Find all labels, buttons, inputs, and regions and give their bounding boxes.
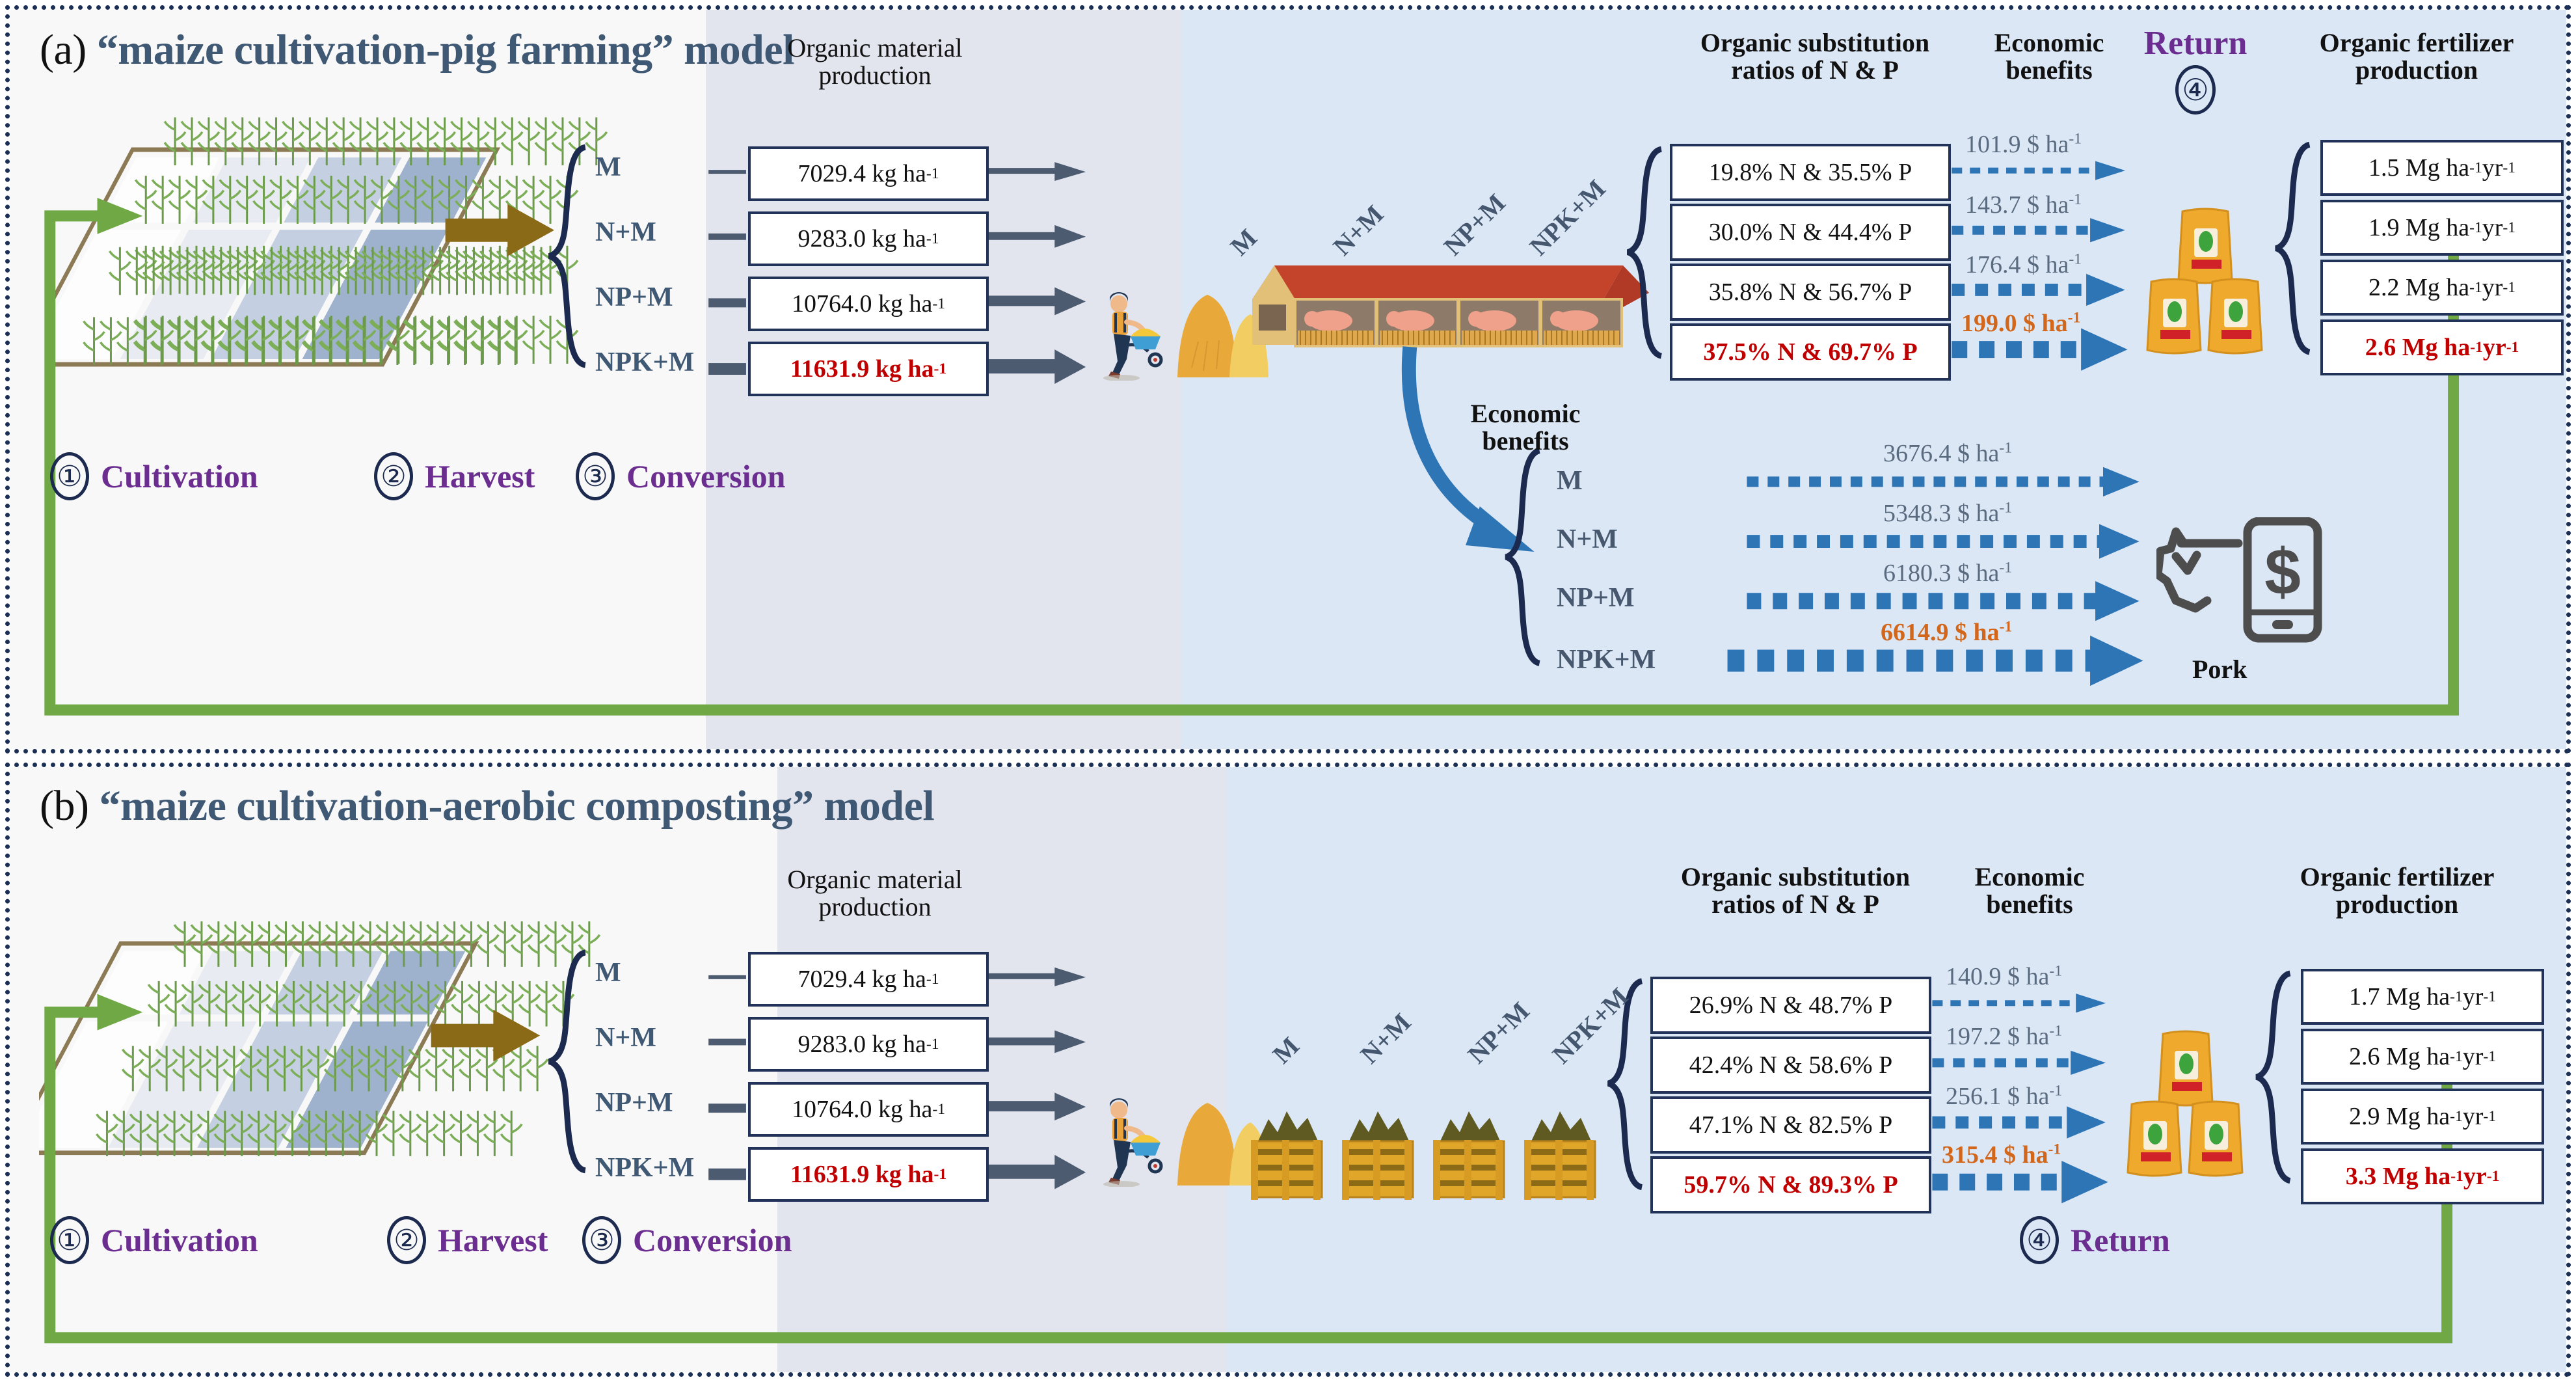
stage-harvest-a: ② Harvest bbox=[374, 452, 535, 500]
economic-benefits-header-b: Economic benefits bbox=[1939, 863, 2121, 918]
organic-material-header-a: Organic material production bbox=[745, 34, 1005, 89]
organic-material-box-nm-a: 9283.0 kg ha-1 bbox=[748, 211, 989, 266]
pork-treatment-m-a: M bbox=[1557, 465, 1583, 496]
pork-value-nm: 5348.3 $ ha-1 bbox=[1883, 499, 2012, 528]
treatment-label-npm-a: NP+M bbox=[595, 282, 673, 313]
fertilizer-box-npm-b: 2.9 Mg ha-1 yr-1 bbox=[2301, 1089, 2544, 1145]
economic-benefit-npm-a: 176.4 $ ha-1 bbox=[1965, 251, 2082, 279]
fertilizer-header-b: Organic fertilizer production bbox=[2254, 863, 2540, 918]
treatment-label-npkm-b: NPK+M bbox=[595, 1152, 694, 1184]
fertilizer-box-nm-b: 2.6 Mg ha-1 yr-1 bbox=[2301, 1029, 2544, 1085]
stage-number-4-b: ④ bbox=[2020, 1216, 2059, 1264]
panel-b-title-text: “maize cultivation-aerobic composting” m… bbox=[99, 782, 934, 830]
stage-cultivation-b: ① Cultivation bbox=[50, 1216, 258, 1264]
stage-number-2-b: ② bbox=[387, 1216, 426, 1264]
substitution-box-npkm-b: 59.7% N & 89.3% P bbox=[1650, 1156, 1931, 1213]
substitution-box-m-b: 26.9% N & 48.7% P bbox=[1650, 977, 1931, 1034]
panel-b-tag: (b) bbox=[40, 782, 88, 830]
organic-material-box-m-b: 7029.4 kg ha-1 bbox=[748, 952, 989, 1007]
substitution-box-nm-b: 42.4% N & 58.6% P bbox=[1650, 1036, 1931, 1094]
economic-benefit-npkm-a: 199.0 $ ha-1 bbox=[1961, 309, 2080, 338]
economic-benefit-m-a: 101.9 $ ha-1 bbox=[1965, 130, 2082, 159]
pork-value-m: 3676.4 $ ha-1 bbox=[1883, 439, 2012, 468]
stage-number-2-a: ② bbox=[374, 452, 413, 500]
economic-benefit-nm-b: 197.2 $ ha-1 bbox=[1946, 1022, 2062, 1051]
treatment-label-nm-b: N+M bbox=[595, 1022, 656, 1053]
stage-number-1-a: ① bbox=[50, 452, 89, 500]
fertilizer-box-npkm-b: 3.3 Mg ha-1 yr-1 bbox=[2301, 1148, 2544, 1204]
fertilizer-box-m-b: 1.7 Mg ha-1 yr-1 bbox=[2301, 969, 2544, 1025]
stage-conversion-a: ③ Conversion bbox=[576, 452, 785, 500]
panel-b: (b) “maize cultivation-aerobic compostin… bbox=[5, 763, 2571, 1377]
pork-label: Pork bbox=[2192, 654, 2247, 684]
panel-a: (a) “maize cultivation-pig farming” mode… bbox=[5, 5, 2571, 753]
stage-number-1-b: ① bbox=[50, 1216, 89, 1264]
pork-treatment-nm-a: N+M bbox=[1557, 524, 1618, 555]
stage-return-b: ④ Return bbox=[2020, 1216, 2170, 1264]
organic-material-box-npm-b: 10764.0 kg ha-1 bbox=[748, 1082, 989, 1137]
pork-value-npkm: 6614.9 $ ha-1 bbox=[1881, 618, 2012, 647]
fertilizer-brace-b bbox=[10, 767, 2566, 1377]
stage-label-harvest-b: Harvest bbox=[438, 1221, 548, 1259]
stage-label-cultivation-a: Cultivation bbox=[101, 457, 258, 495]
stage-number-3-a: ③ bbox=[576, 452, 615, 500]
panel-a-title: (a) “maize cultivation-pig farming” mode… bbox=[40, 25, 794, 75]
fertilizer-header-a: Organic fertilizer production bbox=[2274, 29, 2560, 84]
panel-a-tag: (a) bbox=[40, 26, 87, 74]
panel-b-title: (b) “maize cultivation-aerobic compostin… bbox=[40, 781, 934, 831]
stage-cultivation-a: ① Cultivation bbox=[50, 452, 258, 500]
pork-value-npm: 6180.3 $ ha-1 bbox=[1883, 559, 2012, 588]
substitution-box-m-a: 19.8% N & 35.5% P bbox=[1670, 144, 1951, 201]
stage-harvest-b: ② Harvest bbox=[387, 1216, 548, 1264]
organic-material-box-npm-a: 10764.0 kg ha-1 bbox=[748, 277, 989, 331]
organic-material-box-nm-b: 9283.0 kg ha-1 bbox=[748, 1017, 989, 1072]
substitution-box-npkm-a: 37.5% N & 69.7% P bbox=[1670, 323, 1951, 381]
fertilizer-box-nm-a: 1.9 Mg ha-1 yr-1 bbox=[2320, 200, 2564, 256]
substitution-box-npm-a: 35.8% N & 56.7% P bbox=[1670, 264, 1951, 321]
panel-a-title-text: “maize cultivation-pig farming” model bbox=[97, 26, 794, 74]
treatment-label-m-a: M bbox=[595, 152, 621, 183]
stage-label-harvest-a: Harvest bbox=[425, 457, 535, 495]
substitution-box-npm-b: 47.1% N & 82.5% P bbox=[1650, 1096, 1931, 1154]
pork-economic-header-a: Economic benefits bbox=[1431, 400, 1620, 455]
fertilizer-box-npkm-a: 2.6 Mg ha-1 yr-1 bbox=[2320, 319, 2564, 375]
substitution-header-b: Organic substitution ratios of N & P bbox=[1630, 863, 1961, 918]
stage-label-conversion-a: Conversion bbox=[626, 457, 785, 495]
organic-material-box-m-a: 7029.4 kg ha-1 bbox=[748, 146, 989, 201]
organic-material-box-npkm-a: 11631.9 kg ha-1 bbox=[748, 342, 989, 396]
economic-benefit-npm-b: 256.1 $ ha-1 bbox=[1946, 1082, 2062, 1111]
stage-number-3-b: ③ bbox=[582, 1216, 621, 1264]
economic-benefit-nm-a: 143.7 $ ha-1 bbox=[1965, 191, 2082, 219]
stage-label-cultivation-b: Cultivation bbox=[101, 1221, 258, 1259]
fertilizer-box-m-a: 1.5 Mg ha-1 yr-1 bbox=[2320, 140, 2564, 196]
pork-treatment-npkm-a: NPK+M bbox=[1557, 644, 1656, 675]
economic-benefit-m-b: 140.9 $ ha-1 bbox=[1946, 962, 2062, 991]
stage-conversion-b: ③ Conversion bbox=[582, 1216, 792, 1264]
pork-treatment-npm-a: NP+M bbox=[1557, 582, 1635, 614]
stage-label-conversion-b: Conversion bbox=[633, 1221, 792, 1259]
organic-material-box-npkm-b: 11631.9 kg ha-1 bbox=[748, 1147, 989, 1202]
substitution-header-a: Organic substitution ratios of N & P bbox=[1649, 29, 1981, 84]
fertilizer-box-npm-a: 2.2 Mg ha-1 yr-1 bbox=[2320, 260, 2564, 316]
treatment-label-m-b: M bbox=[595, 957, 621, 988]
substitution-box-nm-a: 30.0% N & 44.4% P bbox=[1670, 204, 1951, 261]
pork-dashed-arrows bbox=[10, 10, 2566, 753]
treatment-label-nm-a: N+M bbox=[595, 217, 656, 248]
treatment-label-npm-b: NP+M bbox=[595, 1087, 673, 1118]
economic-benefit-npkm-b: 315.4 $ ha-1 bbox=[1942, 1141, 2061, 1169]
stage-label-return-b: Return bbox=[2071, 1221, 2170, 1259]
organic-material-header-b: Organic material production bbox=[745, 866, 1005, 921]
return-label-a: Return ④ bbox=[2124, 24, 2267, 115]
treatment-label-npkm-a: NPK+M bbox=[595, 347, 694, 378]
economic-benefits-header-a: Economic benefits bbox=[1958, 29, 2140, 84]
